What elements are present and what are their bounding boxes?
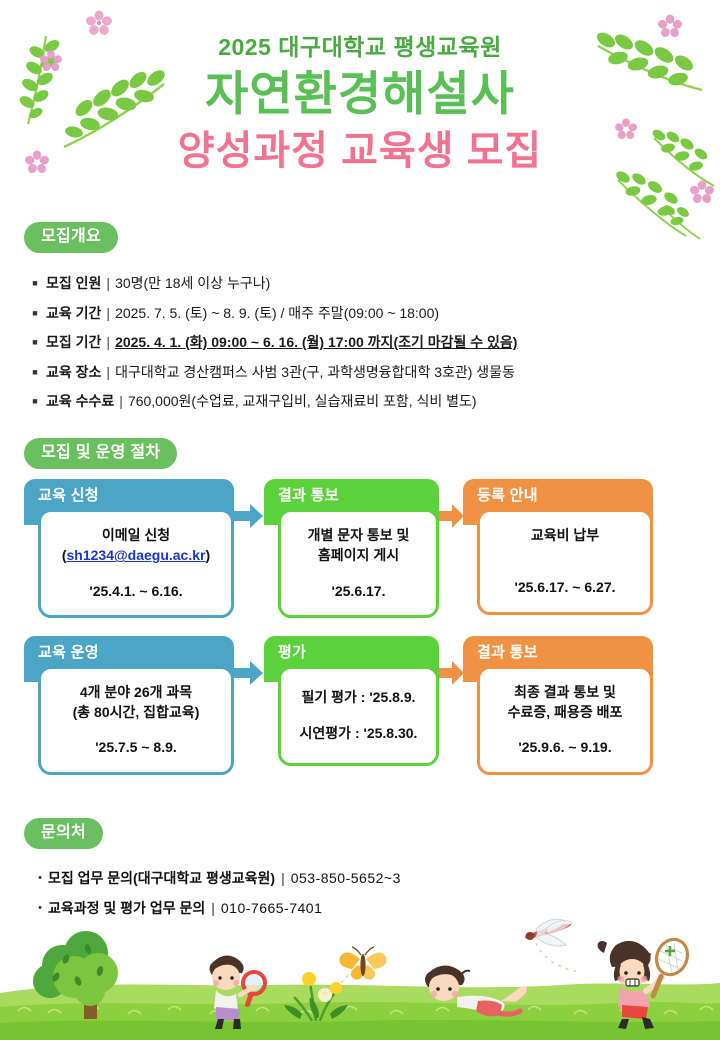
process-step-body: 최종 결과 통보 및 수료증, 패용증 배포 '25.9.6. ~ 9.19. xyxy=(477,666,653,775)
process-section: 모집 및 운영 절차 교육 신청 이메일 신청 (sh1234@daegu.ac… xyxy=(24,438,704,775)
process-step-detail: 교육비 납부 xyxy=(490,525,640,545)
poster-header: 2025 대구대학교 평생교육원 자연환경해설사 양성과정 교육생 모집 xyxy=(0,34,720,174)
contact-item-separator: | xyxy=(211,900,215,916)
grass-icon xyxy=(0,983,720,1040)
process-step-date: '25.9.6. ~ 9.19. xyxy=(490,737,640,757)
overview-item-separator: | xyxy=(119,393,123,411)
process-step-detail: 시연평가 : '25.8.30. xyxy=(291,723,426,743)
process-flow-row-1: 교육 신청 이메일 신청 (sh1234@daegu.ac.kr) '25.4.… xyxy=(24,479,704,618)
poster-title-sub: 양성과정 교육생 모집 xyxy=(0,128,720,174)
overview-pill-label: 모집개요 xyxy=(24,222,118,253)
process-step-result-notice: 결과 통보 개별 문자 통보 및 홈페이지 게시 '25.6.17. xyxy=(264,479,439,618)
process-step-date: '25.4.1. ~ 6.16. xyxy=(51,581,221,601)
overview-item-separator: | xyxy=(106,275,110,293)
poster-root: 2025 대구대학교 평생교육원 자연환경해설사 양성과정 교육생 모집 모집개… xyxy=(0,0,720,1040)
process-step-detail: 필기 평가 : '25.8.9. xyxy=(291,687,426,707)
overview-item-separator: | xyxy=(106,364,110,382)
process-step-email-line: (sh1234@daegu.ac.kr) xyxy=(51,545,221,565)
process-step-date: '25.7.5 ~ 8.9. xyxy=(51,737,221,757)
overview-item-training-period: ■ 교육 기간 | 2025. 7. 5. (토) ~ 8. 9. (토) / … xyxy=(24,305,696,323)
process-step-body: 이메일 신청 (sh1234@daegu.ac.kr) '25.4.1. ~ 6… xyxy=(38,509,234,618)
overview-item-label: 교육 수수료 xyxy=(46,393,114,411)
cherry-blossom-icon xyxy=(86,10,112,36)
overview-item-label: 모집 인원 xyxy=(46,275,101,293)
flow-arrow-icon xyxy=(234,660,264,691)
process-step-date: '25.6.17. xyxy=(291,581,426,601)
process-step-detail: 수료증, 패용증 배포 xyxy=(490,702,640,722)
bottom-illustration xyxy=(0,915,720,1040)
bullet-dot-icon: ■ xyxy=(24,337,46,348)
dragonfly-icon xyxy=(524,919,572,946)
overview-item-recruit-period: ■ 모집 기간 | 2025. 4. 1. (화) 09:00 ~ 6. 16.… xyxy=(24,334,696,352)
poster-kicker: 2025 대구대학교 평생교육원 xyxy=(0,34,720,62)
overview-item-value: 2025. 4. 1. (화) 09:00 ~ 6. 16. (월) 17:00… xyxy=(115,334,517,352)
overview-item-capacity: ■ 모집 인원 | 30명(만 18세 이상 누구나) xyxy=(24,275,696,293)
contact-item-separator: | xyxy=(281,870,285,886)
process-step-detail: 홈페이지 게시 xyxy=(291,545,426,565)
process-pill-label: 모집 및 운영 절차 xyxy=(24,438,177,469)
contact-pill-label: 문의처 xyxy=(24,818,103,849)
process-step-body: 개별 문자 통보 및 홈페이지 게시 '25.6.17. xyxy=(278,509,439,618)
process-flow-row-2: 교육 운영 4개 분야 26개 과목 (총 80시간, 집합교육) '25.7.… xyxy=(24,636,704,775)
process-step-operation: 교육 운영 4개 분야 26개 과목 (총 80시간, 집합교육) '25.7.… xyxy=(24,636,234,775)
process-step-detail: 이메일 신청 xyxy=(51,525,221,545)
flow-arrow-icon xyxy=(439,660,463,691)
butterfly-icon xyxy=(340,947,387,980)
process-step-detail: 개별 문자 통보 및 xyxy=(291,525,426,545)
paren-close: ) xyxy=(205,547,210,563)
process-step-application: 교육 신청 이메일 신청 (sh1234@daegu.ac.kr) '25.4.… xyxy=(24,479,234,618)
overview-section: 모집개요 ■ 모집 인원 | 30명(만 18세 이상 누구나) ■ 교육 기간… xyxy=(24,222,696,423)
cherry-blossom-icon xyxy=(690,180,714,204)
process-step-final-notice: 결과 통보 최종 결과 통보 및 수료증, 패용증 배포 '25.9.6. ~ … xyxy=(463,636,653,775)
flow-arrow-icon xyxy=(234,503,264,534)
bullet-dot-icon: • xyxy=(32,902,48,914)
process-step-detail: 4개 분야 26개 과목 xyxy=(51,682,221,702)
application-email-link[interactable]: sh1234@daegu.ac.kr xyxy=(67,547,206,563)
contact-phone-number[interactable]: 053-850-5652~3 xyxy=(291,870,401,886)
contact-item-recruitment: • 모집 업무 문의(대구대학교 평생교육원) | 053-850-5652~3 xyxy=(32,868,696,888)
process-step-evaluation: 평가 필기 평가 : '25.8.9. 시연평가 : '25.8.30. xyxy=(264,636,439,767)
bullet-dot-icon: ■ xyxy=(24,308,46,319)
contact-section: 문의처 • 모집 업무 문의(대구대학교 평생교육원) | 053-850-56… xyxy=(24,818,696,928)
overview-item-label: 교육 장소 xyxy=(46,364,101,382)
overview-item-separator: | xyxy=(106,334,110,352)
bullet-dot-icon: ■ xyxy=(24,396,46,407)
contact-phone-number[interactable]: 010-7665-7401 xyxy=(221,900,322,916)
flow-arrow-icon xyxy=(439,503,463,534)
contact-item-label: 모집 업무 문의(대구대학교 평생교육원) xyxy=(48,868,275,888)
process-step-body: 4개 분야 26개 과목 (총 80시간, 집합교육) '25.7.5 ~ 8.… xyxy=(38,666,234,775)
process-step-detail: (총 80시간, 집합교육) xyxy=(51,702,221,722)
process-step-detail: 최종 결과 통보 및 xyxy=(490,682,640,702)
overview-item-location: ■ 교육 장소 | 대구대학교 경산캠퍼스 사범 3관(구, 과학생명융합대학 … xyxy=(24,364,696,382)
bullet-dot-icon: • xyxy=(32,872,48,884)
overview-item-value: 760,000원(수업료, 교재구입비, 실습재료비 포함, 식비 별도) xyxy=(128,393,477,411)
poster-title-main: 자연환경해설사 xyxy=(0,68,720,121)
process-step-registration: 등록 안내 교육비 납부 '25.6.17. ~ 6.27. xyxy=(463,479,653,615)
overview-item-label: 모집 기간 xyxy=(46,334,101,352)
overview-item-value: 2025. 7. 5. (토) ~ 8. 9. (토) / 매주 주말(09:0… xyxy=(115,305,439,323)
dragonfly-trail-icon xyxy=(536,943,576,971)
process-step-body: 필기 평가 : '25.8.9. 시연평가 : '25.8.30. xyxy=(278,666,439,767)
overview-item-separator: | xyxy=(106,305,110,323)
process-step-date: '25.6.17. ~ 6.27. xyxy=(490,577,640,597)
overview-item-value: 30명(만 18세 이상 누구나) xyxy=(115,275,270,293)
bullet-dot-icon: ■ xyxy=(24,367,46,378)
overview-bullet-list: ■ 모집 인원 | 30명(만 18세 이상 누구나) ■ 교육 기간 | 20… xyxy=(24,275,696,411)
contact-list: • 모집 업무 문의(대구대학교 평생교육원) | 053-850-5652~3… xyxy=(24,868,696,918)
overview-item-fee: ■ 교육 수수료 | 760,000원(수업료, 교재구입비, 실습재료비 포함… xyxy=(24,393,696,411)
overview-item-value: 대구대학교 경산캠퍼스 사범 3관(구, 과학생명융합대학 3호관) 생물동 xyxy=(115,364,515,382)
overview-item-label: 교육 기간 xyxy=(46,305,101,323)
process-step-body: 교육비 납부 '25.6.17. ~ 6.27. xyxy=(477,509,653,615)
bullet-dot-icon: ■ xyxy=(24,278,46,289)
